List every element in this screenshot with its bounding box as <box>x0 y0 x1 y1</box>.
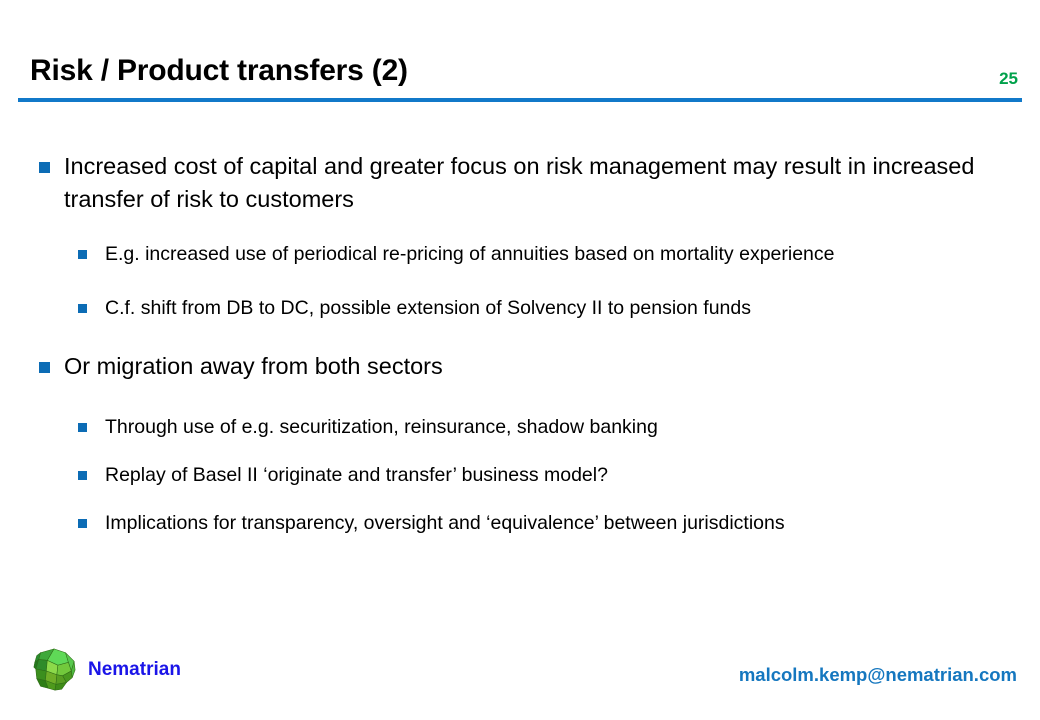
brand-logo-group: Nematrian <box>30 646 181 694</box>
polyhedron-logo-icon <box>30 646 78 694</box>
spacer <box>0 489 1040 509</box>
bullet-marker-icon <box>78 304 87 313</box>
bullet-item-level2: E.g. increased use of periodical re-pric… <box>0 240 1040 268</box>
title-divider <box>18 98 1022 102</box>
bullet-marker-icon <box>78 250 87 259</box>
spacer <box>0 383 1040 413</box>
bullet-text: E.g. increased use of periodical re-pric… <box>105 243 835 265</box>
spacer <box>0 322 1040 350</box>
contact-email: malcolm.kemp@nematrian.com <box>739 664 1017 686</box>
bullet-text: Or migration away from both sectors <box>64 353 443 379</box>
bullet-item-level1: Increased cost of capital and greater fo… <box>0 150 1040 216</box>
spacer <box>0 268 1040 294</box>
bullet-text: C.f. shift from DB to DC, possible exten… <box>105 297 751 319</box>
bullet-text: Increased cost of capital and greater fo… <box>64 153 974 212</box>
slide-header: Risk / Product transfers (2) 25 <box>0 0 1040 104</box>
spacer <box>0 441 1040 461</box>
bullet-item-level2: Replay of Basel II ‘originate and transf… <box>0 461 1040 489</box>
bullet-marker-icon <box>39 362 50 373</box>
bullet-item-level2: Implications for transparency, oversight… <box>0 509 1040 537</box>
slide-body: Increased cost of capital and greater fo… <box>0 150 1040 537</box>
bullet-item-level2: C.f. shift from DB to DC, possible exten… <box>0 294 1040 322</box>
spacer <box>0 216 1040 240</box>
bullet-marker-icon <box>78 519 87 528</box>
bullet-item-level1: Or migration away from both sectors <box>0 350 1040 383</box>
page-title: Risk / Product transfers (2) <box>30 54 408 88</box>
slide-page-number: 25 <box>999 69 1018 89</box>
brand-name: Nematrian <box>88 659 181 681</box>
bullet-text: Through use of e.g. securitization, rein… <box>105 416 658 438</box>
bullet-marker-icon <box>39 162 50 173</box>
bullet-marker-icon <box>78 471 87 480</box>
bullet-marker-icon <box>78 423 87 432</box>
bullet-text: Replay of Basel II ‘originate and transf… <box>105 464 608 486</box>
slide-footer: Nematrian malcolm.kemp@nematrian.com <box>0 628 1040 720</box>
bullet-item-level2: Through use of e.g. securitization, rein… <box>0 413 1040 441</box>
bullet-text: Implications for transparency, oversight… <box>105 512 785 534</box>
